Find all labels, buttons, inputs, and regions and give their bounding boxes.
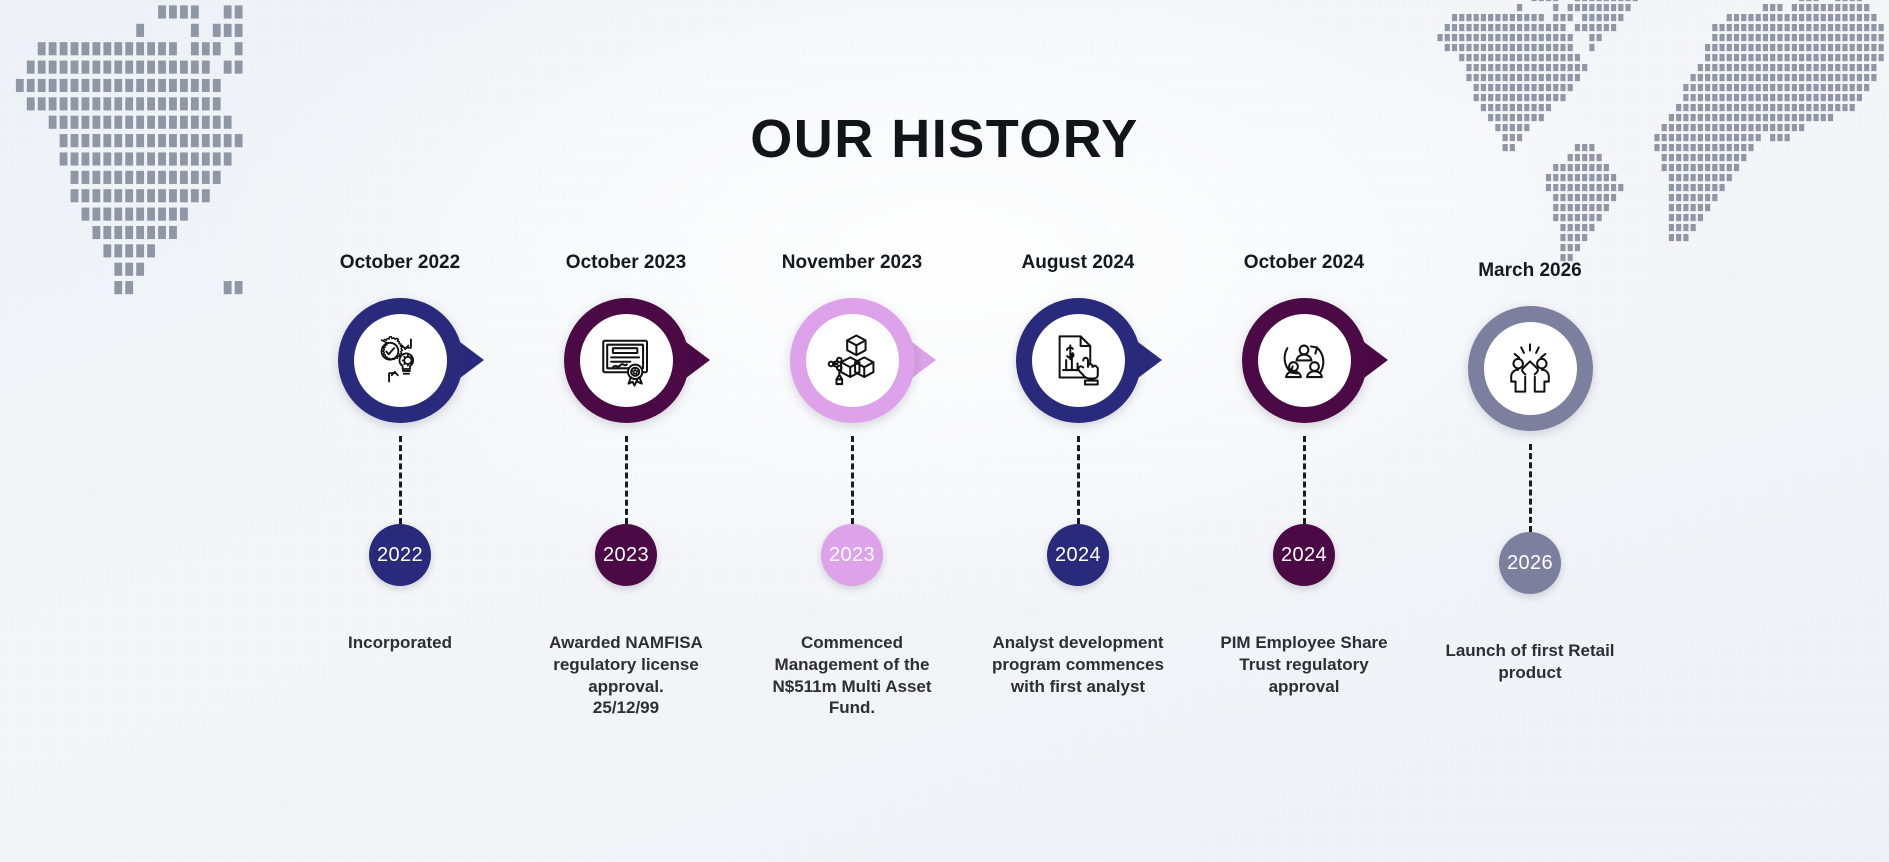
- milestone-year-badge[interactable]: 2023: [595, 524, 657, 586]
- people-cycle-icon: [1258, 314, 1351, 407]
- milestone-date: October 2024: [1244, 250, 1364, 276]
- milestone-description: Incorporated: [307, 632, 493, 654]
- milestone-year-badge[interactable]: 2022: [369, 524, 431, 586]
- milestone-date: March 2026: [1478, 258, 1582, 284]
- certificate-award-icon: [580, 314, 673, 407]
- page-title: OUR HISTORY: [0, 108, 1889, 170]
- gear-check-lightbulb-icon: [354, 314, 447, 407]
- milestone-icon-ring[interactable]: [1016, 298, 1141, 423]
- asset-cubes-icon: [806, 314, 899, 407]
- milestone-year-badge[interactable]: 2026: [1499, 532, 1561, 594]
- timeline-milestone: October 2023 2023Awarded NAMFISA regulat…: [526, 250, 726, 719]
- high-five-celebration-icon: [1484, 322, 1577, 415]
- timeline-milestone: October 2024 2024PIM Employee Share Trus…: [1204, 250, 1404, 697]
- timeline-milestone: August 2024 2024Analyst development prog…: [978, 250, 1178, 697]
- milestone-description: PIM Employee Share Trust regulatory appr…: [1211, 632, 1397, 697]
- dashed-connector: [1303, 436, 1306, 524]
- milestone-date: October 2022: [340, 250, 460, 276]
- milestone-description: Analyst development program commences wi…: [985, 632, 1171, 697]
- timeline-track: October 2022 2022IncorporatedOctober 202…: [300, 250, 1630, 810]
- dashed-connector: [399, 436, 402, 524]
- milestone-date: October 2023: [566, 250, 686, 276]
- timeline-milestone: October 2022 2022Incorporated: [300, 250, 500, 654]
- milestone-year-badge[interactable]: 2024: [1047, 524, 1109, 586]
- milestone-node: [300, 290, 500, 430]
- dashed-connector: [625, 436, 628, 524]
- milestone-description: Commenced Management of the N$511m Multi…: [759, 632, 945, 719]
- milestone-icon-ring[interactable]: [564, 298, 689, 423]
- financial-report-hand-icon: [1032, 314, 1125, 407]
- milestone-icon-ring[interactable]: [338, 298, 463, 423]
- milestone-node: [752, 290, 952, 430]
- dashed-connector: [1529, 444, 1532, 532]
- milestone-node: [1204, 290, 1404, 430]
- timeline-milestone: March 2026 2026Launch of first Retail pr…: [1430, 258, 1630, 684]
- milestone-icon-ring[interactable]: [1468, 306, 1593, 431]
- timeline-milestone: November 2023 2023Commenced Management o…: [752, 250, 952, 719]
- dashed-connector: [1077, 436, 1080, 524]
- milestone-node: [978, 290, 1178, 430]
- milestone-icon-ring[interactable]: [790, 298, 915, 423]
- milestone-icon-ring[interactable]: [1242, 298, 1367, 423]
- milestone-date: November 2023: [782, 250, 922, 276]
- milestone-description: Launch of first Retail product: [1437, 640, 1623, 684]
- milestone-description: Awarded NAMFISA regulatory license appro…: [533, 632, 719, 719]
- milestone-node: [1430, 298, 1630, 438]
- milestone-date: August 2024: [1022, 250, 1135, 276]
- dashed-connector: [851, 436, 854, 524]
- milestone-year-badge[interactable]: 2023: [821, 524, 883, 586]
- milestone-node: [526, 290, 726, 430]
- milestone-year-badge[interactable]: 2024: [1273, 524, 1335, 586]
- history-timeline-page: OUR HISTORY October 2022 2022Incorporate…: [0, 0, 1889, 862]
